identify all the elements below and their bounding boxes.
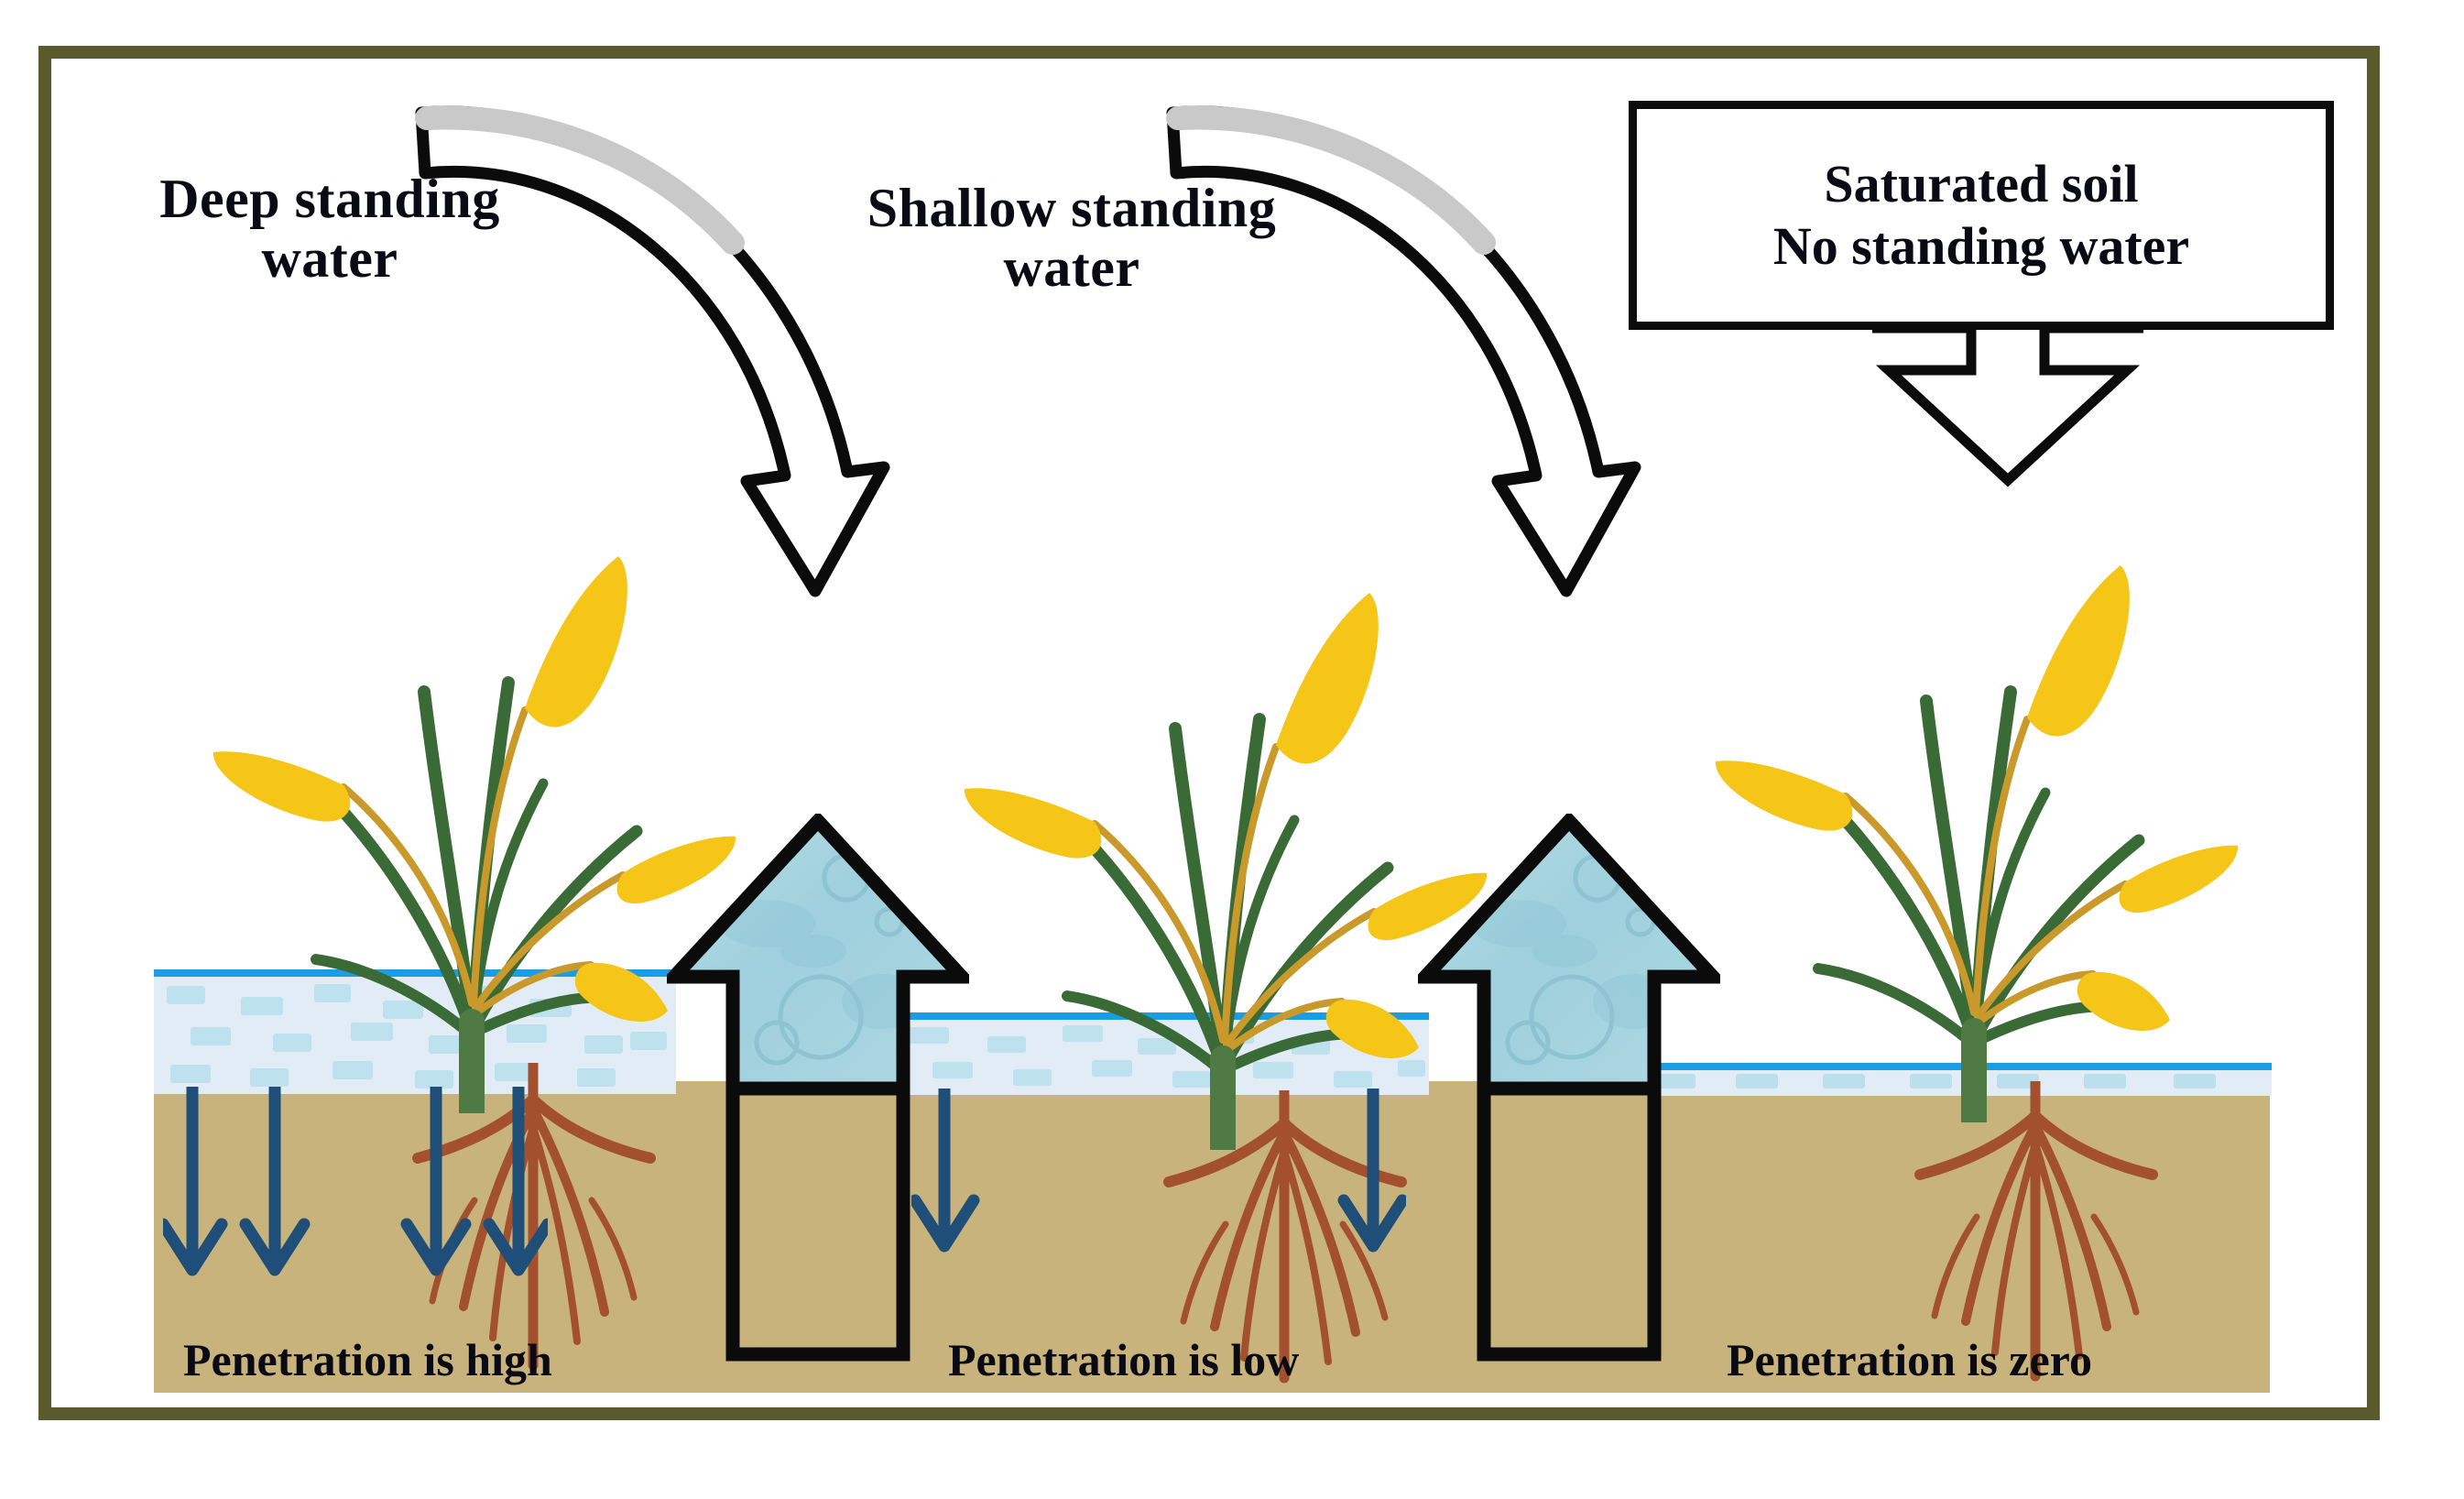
rice-plant-icon-3 <box>1708 426 2240 1122</box>
saturated-soil-callout: Saturated soil No standing water <box>1629 101 2334 330</box>
diagram-canvas: Saturated soil No standing water <box>0 0 2464 1499</box>
callout-down-arrow <box>1870 323 2145 487</box>
label-penetration-low: Penetration is low <box>948 1333 1299 1386</box>
callout-line-2: No standing water <box>1773 215 2189 278</box>
label-penetration-high: Penetration is high <box>183 1333 552 1386</box>
curved-transition-arrow-1 <box>385 78 971 838</box>
callout-line-1: Saturated soil <box>1824 153 2138 215</box>
label-penetration-zero: Penetration is zero <box>1727 1333 2092 1386</box>
percolation-arrows-group-deep <box>163 1087 548 1297</box>
